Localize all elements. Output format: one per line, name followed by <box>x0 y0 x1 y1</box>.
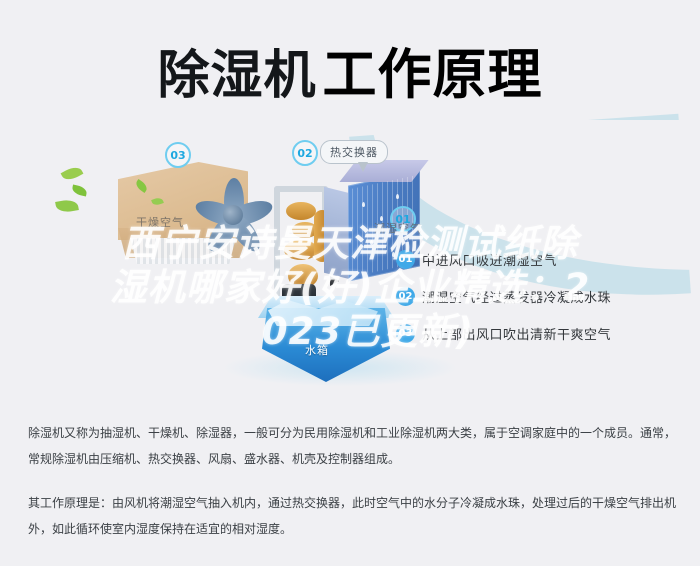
body-text-block: 除湿机又称为抽湿机、干燥机、除湿器，一般可分为民用除湿机和工业除湿机两大类，属于… <box>28 420 676 560</box>
heat-exchanger-callout: 热交换器 <box>320 140 388 164</box>
list-item: 02 潮湿空气经过蒸发器冷凝成水珠 <box>396 287 686 306</box>
water-tank-label: 水箱 <box>305 342 329 358</box>
condensation-droplet <box>370 240 373 245</box>
copper-coil <box>284 240 318 260</box>
callout-pointer-icon <box>358 162 368 172</box>
page-title: 除湿机工作原理 <box>0 30 700 109</box>
fan-illustration <box>190 172 276 258</box>
copper-coil <box>286 202 316 220</box>
page-title-part1: 除湿机 <box>157 46 316 106</box>
condensation-droplet <box>396 194 399 199</box>
refrigerant-pipe <box>274 186 328 192</box>
swoosh-arc-cutout <box>372 120 700 270</box>
heat-exchanger-side <box>324 187 350 279</box>
refrigerant-pipe <box>274 186 280 304</box>
step-badge-02: 02 <box>396 287 415 306</box>
humid-air-label: 潮湿空气 <box>374 220 422 236</box>
airflow-arrow-icon <box>330 276 339 286</box>
steps-list: 01 中进风口吸进潮湿空气 02 潮湿空气经过蒸发器冷凝成水珠 03 从上部出风… <box>396 250 686 361</box>
step-text-02: 潮湿空气经过蒸发器冷凝成水珠 <box>422 287 611 306</box>
list-item: 01 中进风口吸进潮湿空气 <box>396 250 686 269</box>
condensation-droplet <box>392 252 395 257</box>
leaf-icon <box>55 198 79 214</box>
page-title-part2: 工作原理 <box>323 43 543 106</box>
leaf-icon <box>71 185 88 197</box>
illustration-badge-03: 03 <box>165 142 191 168</box>
step-text-03: 从上部出风口吹出清新干爽空气 <box>422 324 611 343</box>
leaf-icon <box>61 164 84 183</box>
dry-air-label: 干燥空气 <box>136 214 184 230</box>
paragraph-1: 除湿机又称为抽湿机、干燥机、除湿器，一般可分为民用除湿机和工业除湿机两大类，属于… <box>28 420 676 472</box>
list-item: 03 从上部出风口吹出清新干爽空气 <box>396 324 686 343</box>
condensation-droplet <box>362 202 365 207</box>
fan-hub <box>223 205 243 225</box>
infographic-page: 除湿机工作原理 干燥空气 <box>0 0 700 566</box>
step-badge-03: 03 <box>396 324 415 343</box>
paragraph-2: 其工作原理是：由风机将潮湿空气抽入机内，通过热交换器，此时空气中的水分子冷凝成水… <box>28 490 676 542</box>
step-text-01: 中进风口吸进潮湿空气 <box>422 250 557 269</box>
illustration-badge-02: 02 <box>292 140 318 166</box>
step-badge-01: 01 <box>396 250 415 269</box>
